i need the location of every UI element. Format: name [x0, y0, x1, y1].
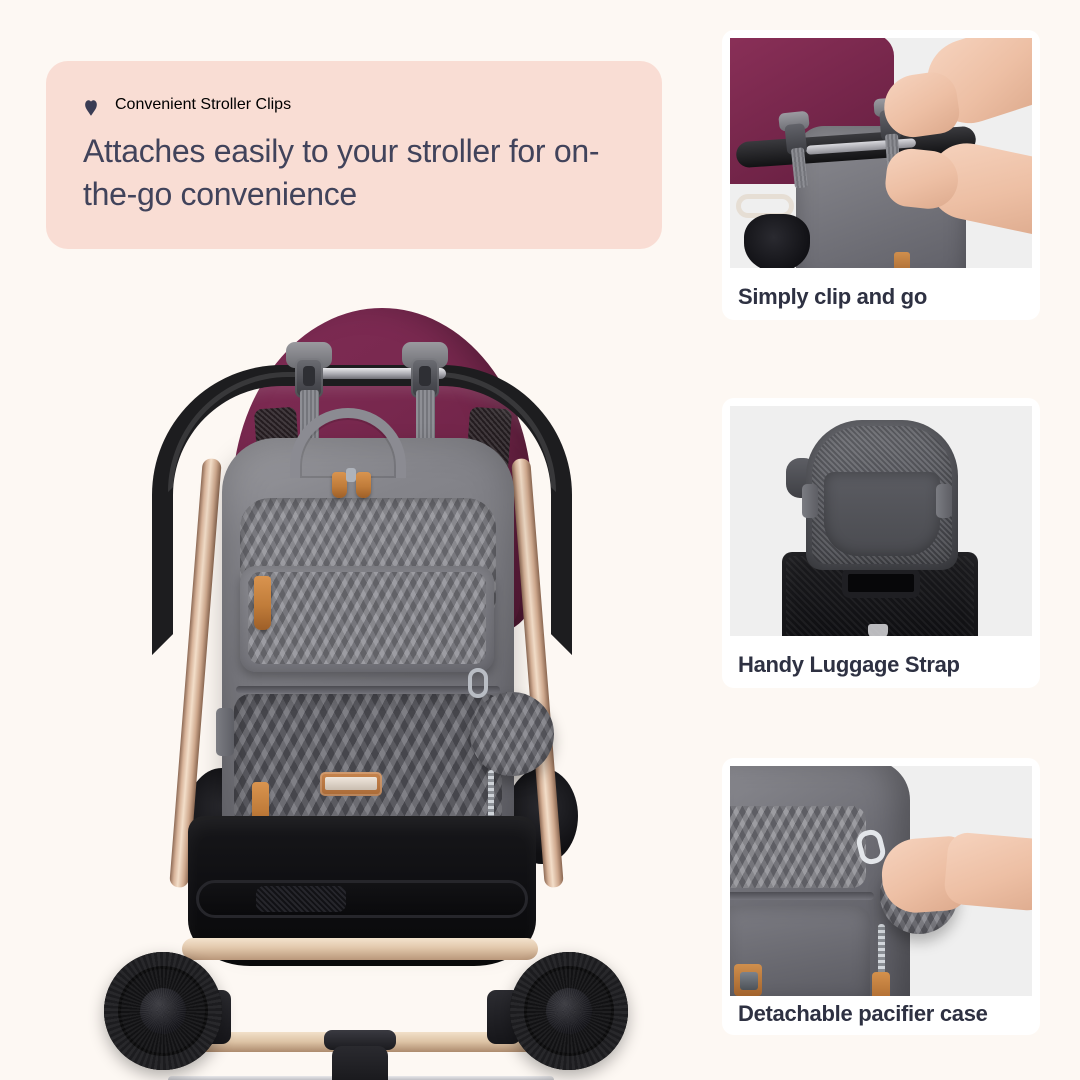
frame-crossbar [182, 938, 538, 960]
thumb-suitcase-grip [842, 568, 920, 598]
wheel-tread [510, 952, 628, 1070]
feature-photo [730, 38, 1032, 268]
feature-caption: Handy Luggage Strap [738, 652, 1030, 678]
backpack-side-strap [216, 708, 234, 756]
front-wheel-left [104, 952, 222, 1070]
thumb-arm [943, 831, 1032, 912]
backpack-middle-zipper [236, 686, 500, 693]
callout-heading: Convenient Stroller Clips [80, 91, 628, 118]
hero-product-image [0, 290, 700, 1080]
feature-card-handy-luggage-strap[interactable]: Handy Luggage Strap [722, 398, 1040, 688]
brand-label-plate [325, 777, 377, 790]
pacifier-case-chain [488, 770, 494, 822]
wheel-tread [104, 952, 222, 1070]
leather-zipper-pull-middle [254, 576, 271, 630]
stroller-clip-right [402, 342, 448, 450]
front-pocket-quilting [248, 572, 486, 664]
heart-icon [80, 96, 102, 118]
thumb-side-loop-left [802, 484, 818, 518]
feature-photo [730, 406, 1032, 636]
clip-strap [791, 147, 808, 188]
thumb-suitcase-logo [868, 624, 888, 636]
center-brake-housing [332, 1046, 388, 1080]
pacifier-case [470, 692, 554, 776]
thumb-leather-pull [894, 252, 910, 268]
feature-caption: Detachable pacifier case [738, 1001, 1030, 1027]
feature-caption: Simply clip and go [738, 284, 1030, 310]
feature-cards-column: Simply clip and go Handy Luggage Strap [722, 0, 1040, 1080]
thumb-backpack-quilting [730, 806, 866, 888]
thumb-pacifier-tassel [872, 972, 890, 996]
leather-zipper-pull-top-right [356, 472, 371, 498]
feature-card-detachable-pacifier-case[interactable]: Detachable pacifier case [722, 758, 1040, 1035]
feature-callout-panel: Convenient Stroller Clips Attaches easil… [46, 61, 662, 249]
basket-rim [196, 880, 528, 918]
callout-subtitle: Attaches easily to your stroller for on-… [80, 130, 628, 215]
leather-zipper-pull-top-left [332, 472, 347, 498]
page-title: Convenient Stroller Clips [115, 96, 291, 114]
thumb-leather-tab-plate [740, 972, 758, 990]
thumb-wheel [744, 214, 810, 268]
feature-card-simply-clip-and-go[interactable]: Simply clip and go [722, 30, 1040, 320]
feature-photo [730, 766, 1032, 996]
thumb-backpack-seam [730, 892, 874, 900]
front-wheel-right [510, 952, 628, 1070]
top-zipper-slider [346, 468, 356, 482]
pacifier-case-clip [468, 668, 488, 698]
thumb-side-loop-right [936, 484, 952, 518]
thumb-luggage-strap-panel [824, 472, 940, 556]
left-column: Convenient Stroller Clips Attaches easil… [0, 0, 700, 1080]
basket-mesh [256, 886, 346, 912]
